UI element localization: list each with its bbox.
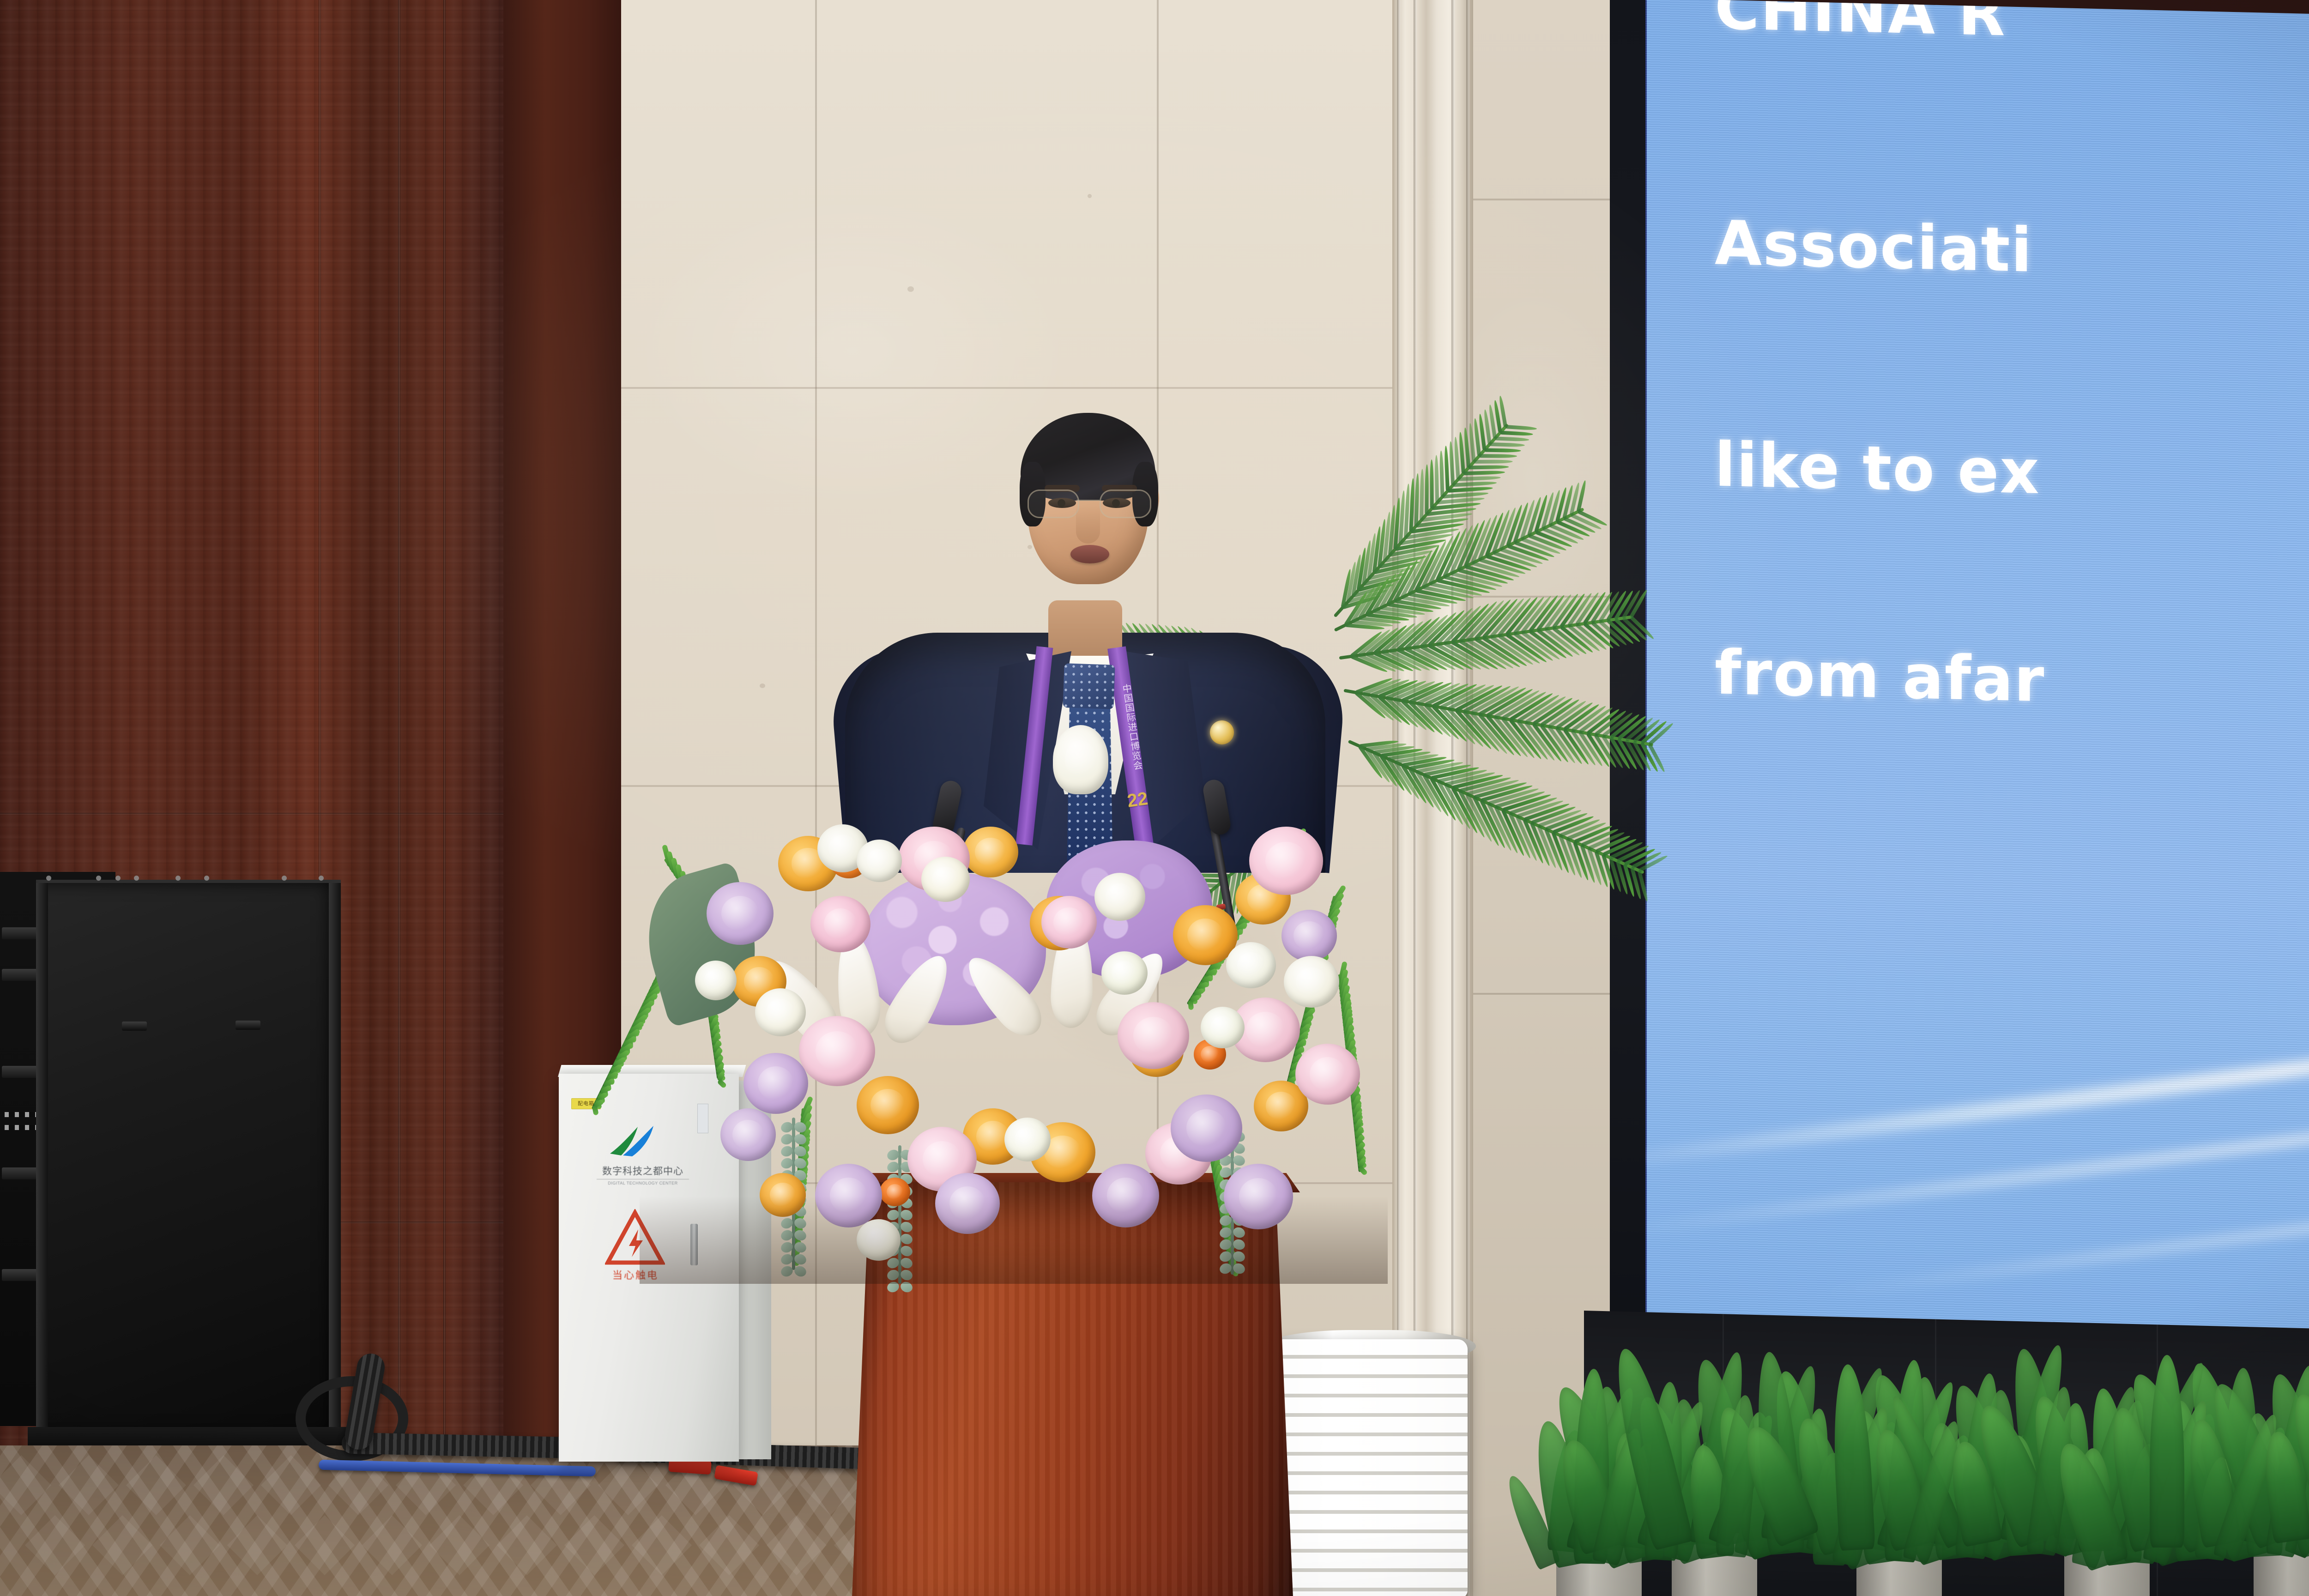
carpet-motif <box>632 1515 692 1575</box>
lavender-rose <box>1224 1164 1293 1229</box>
pink-rose <box>1118 1002 1189 1069</box>
fern-pinna <box>1358 1165 1368 1176</box>
eucalyptus-leaf <box>793 1240 808 1254</box>
gold-lapel-pin <box>1210 720 1234 744</box>
carpet-motif <box>227 1515 287 1575</box>
carpet-motif <box>531 1455 591 1515</box>
av-equipment-rack[interactable] <box>36 880 341 1433</box>
white-lisianthus <box>857 1219 901 1261</box>
eucalyptus-leaf <box>886 1160 901 1174</box>
fern-pinna <box>1188 1000 1194 1010</box>
eucalyptus-leaf <box>780 1264 794 1278</box>
carpet-motif <box>160 1515 220 1575</box>
pink-rose <box>1041 896 1097 949</box>
lavender-rose <box>1171 1094 1242 1162</box>
carpet-motif <box>497 1515 557 1575</box>
eucalyptus-leaf <box>899 1232 914 1246</box>
screen-text-line-2: Associati <box>1715 208 2309 298</box>
eucalyptus-leaf <box>780 1156 794 1170</box>
carpet-motif <box>25 1515 85 1575</box>
eucalyptus-leaf <box>886 1208 901 1222</box>
eucalyptus-leaf <box>899 1244 914 1258</box>
carpet-motif <box>59 1455 119 1515</box>
carpet-motif <box>429 1515 490 1575</box>
carpet-motif <box>699 1515 759 1575</box>
pink-rose <box>1295 1044 1360 1105</box>
palm-leaflet <box>1479 454 1517 458</box>
peace-lily-row <box>1533 1275 2309 1596</box>
peace-lily-leaf <box>2150 1355 2184 1548</box>
pink-rose <box>799 1016 875 1086</box>
orange-rose <box>857 1076 919 1134</box>
eucalyptus-leaf <box>793 1252 808 1266</box>
eucalyptus-leaf <box>1232 1250 1246 1263</box>
orange-rose <box>760 1173 806 1217</box>
white-lisianthus <box>921 857 970 902</box>
lavender-rose <box>935 1173 1000 1234</box>
carpet-motif <box>193 1455 254 1515</box>
lavender-rose <box>743 1053 808 1114</box>
white-lisianthus <box>857 840 902 882</box>
lavender-rose <box>720 1108 776 1161</box>
white-lisianthus <box>1101 951 1148 995</box>
white-lisianthus <box>695 961 737 1000</box>
white-lisianthus <box>755 988 806 1036</box>
eucalyptus-leaf <box>899 1256 914 1270</box>
rack-screws <box>42 876 337 881</box>
white-lisianthus <box>1284 956 1339 1008</box>
mouth <box>1070 545 1109 563</box>
pink-rose <box>1249 827 1323 895</box>
eucalyptus-leaf <box>1232 1262 1246 1276</box>
fern-pinna <box>717 1079 727 1089</box>
screen-text-line-3: like to ex <box>1715 429 2309 520</box>
carpet-motif <box>767 1515 827 1575</box>
lavender-rose <box>1092 1164 1159 1227</box>
necktie-knot-pattern <box>1064 664 1114 708</box>
potted-palm-ceramic <box>1274 1339 1468 1596</box>
podium-floral-arrangement <box>640 757 1388 1279</box>
screen-text-line-4: from afar <box>1715 637 2309 728</box>
white-lisianthus <box>1094 873 1145 921</box>
carpet-motif <box>598 1455 658 1515</box>
white-lisianthus <box>1201 1007 1245 1048</box>
carpet-motif <box>0 1455 51 1515</box>
eucalyptus-leaf <box>780 1228 794 1242</box>
eucalyptus-leaf <box>780 1216 794 1230</box>
eucalyptus-leaf <box>899 1208 914 1222</box>
orange-accent-bloom <box>880 1178 910 1206</box>
eucalyptus-leaf <box>1232 1226 1246 1239</box>
lavender-rose <box>707 882 774 945</box>
orange-rose <box>963 827 1018 877</box>
eucalyptus-leaf <box>899 1220 914 1234</box>
white-lisianthus <box>1226 942 1276 988</box>
eucalyptus-leaf <box>780 1132 794 1146</box>
eucalyptus-leaf <box>1232 1238 1246 1251</box>
carpet-motif <box>362 1515 422 1575</box>
pink-rose <box>810 896 870 952</box>
palm-leaflet <box>1484 448 1521 453</box>
nose <box>1076 506 1100 544</box>
eucalyptus-leaf <box>780 1120 794 1134</box>
led-presentation-screen[interactable]: CHINA R Associati like to ex from afar <box>1645 0 2309 1348</box>
eucalyptus-strand <box>898 1145 901 1284</box>
eucalyptus-leaf <box>793 1264 808 1278</box>
carpet-motif <box>126 1455 186 1515</box>
eucalyptus-leaf <box>780 1144 794 1158</box>
white-rose-standout <box>1053 725 1108 794</box>
lavender-rose <box>1281 910 1337 961</box>
carpet-motif <box>564 1515 624 1575</box>
white-lisianthus <box>1004 1118 1051 1161</box>
lavender-rose <box>815 1164 882 1227</box>
carpet-motif <box>92 1515 152 1575</box>
palm-leaflet <box>1425 464 1429 514</box>
carpet-motif <box>261 1455 321 1515</box>
eucalyptus-leaf <box>886 1148 901 1162</box>
carpet-motif <box>295 1515 355 1575</box>
screen-text-line-1: CHINA R <box>1715 0 2309 63</box>
conference-stage-scene: CHINA R Associati like to ex from afar <box>0 0 2309 1596</box>
eucalyptus-leaf <box>1232 1154 1246 1167</box>
